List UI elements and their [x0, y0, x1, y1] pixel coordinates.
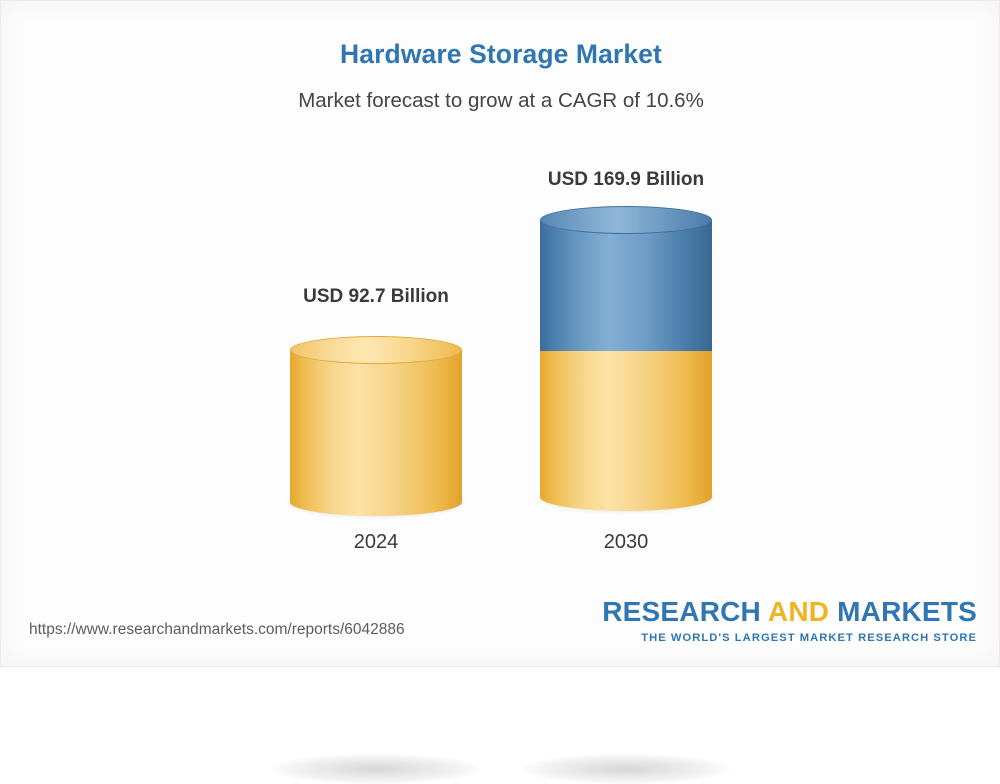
chart-canvas: Hardware Storage Market Market forecast …	[0, 0, 1000, 667]
bar-group-2024: USD 92.7 Billion 2024	[266, 286, 486, 556]
bar-group-2030: USD 169.9 Billion 2030	[516, 161, 736, 556]
chart-title: Hardware Storage Market	[1, 39, 1000, 70]
source-url[interactable]: https://www.researchandmarkets.com/repor…	[29, 621, 405, 639]
bar-value-label-2024: USD 92.7 Billion	[266, 286, 486, 308]
cylinder-body-2024	[290, 350, 462, 502]
cylinder-2024	[290, 336, 462, 506]
cylinder-segment-lower-2030	[540, 351, 712, 497]
logo-wordmark: RESEARCH AND MARKETS	[602, 598, 977, 626]
cylinder-bottom-2030	[540, 483, 712, 511]
cylinder-top-2030	[540, 206, 712, 234]
bar-ground-shadow-2024	[272, 754, 480, 784]
bar-value-label-2030: USD 169.9 Billion	[516, 169, 736, 191]
logo-word-research: RESEARCH	[602, 596, 768, 627]
bar-ground-shadow-2030	[522, 754, 730, 784]
research-and-markets-logo[interactable]: RESEARCH AND MARKETS THE WORLD'S LARGEST…	[602, 598, 977, 644]
cylinder-segment-upper-2030	[540, 220, 712, 351]
cylinder-top-2024	[290, 336, 462, 364]
cylinder-bottom-2024	[290, 488, 462, 516]
logo-word-markets: MARKETS	[829, 596, 977, 627]
chart-subtitle: Market forecast to grow at a CAGR of 10.…	[1, 89, 1000, 113]
category-label-2030: 2030	[516, 531, 736, 554]
category-label-2024: 2024	[266, 531, 486, 554]
logo-word-and: AND	[768, 596, 829, 627]
cylinder-2030	[540, 206, 712, 501]
logo-tagline: THE WORLD'S LARGEST MARKET RESEARCH STOR…	[602, 633, 977, 644]
